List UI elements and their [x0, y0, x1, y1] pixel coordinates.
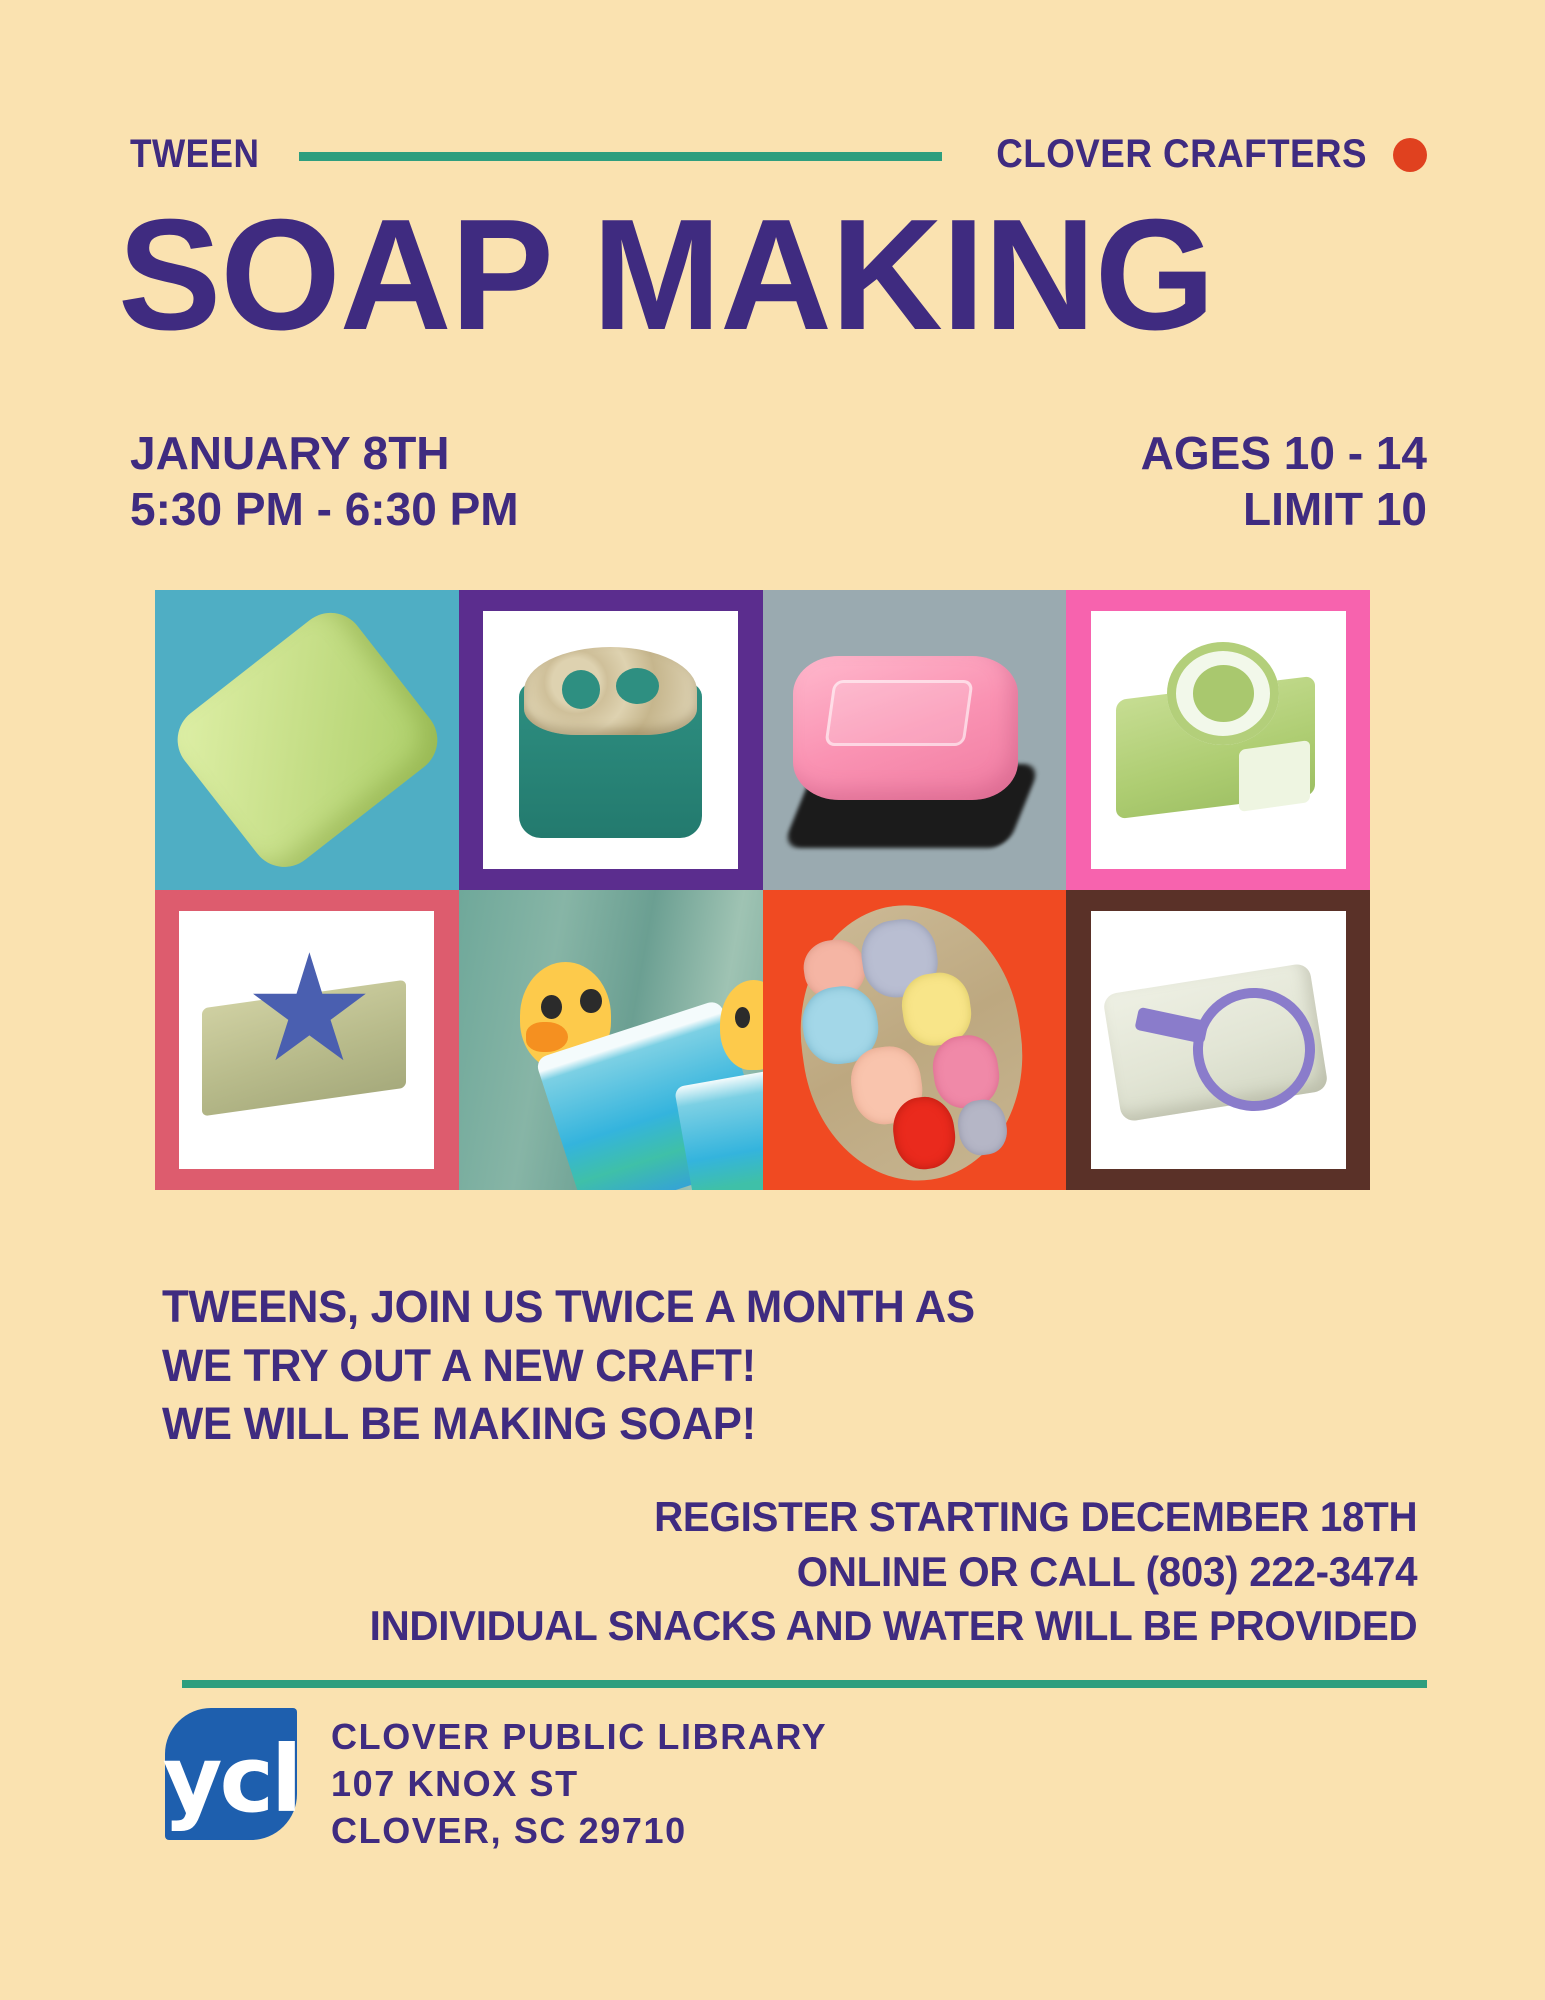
soap-swirl-white-corner [1239, 740, 1310, 812]
poster-canvas: TWEEN CLOVER CRAFTERS SOAP MAKING JANUAR… [0, 0, 1545, 2000]
header-divider-rule [299, 152, 942, 161]
event-date: JANUARY 8TH [130, 425, 519, 481]
gallery-cell-purple-swirl-soap-on-brown [1066, 890, 1370, 1190]
soap-swirl-center [1193, 665, 1254, 722]
duck-eye-right [580, 989, 601, 1013]
header-series-label: CLOVER CRAFTERS [996, 132, 1367, 177]
flower-soap-plate [784, 891, 1039, 1190]
gallery-cell-pink-soap-bar-on-gray [763, 590, 1067, 890]
event-datetime: JANUARY 8TH 5:30 PM - 6:30 PM [130, 425, 519, 537]
soap-pink-emboss [825, 680, 974, 746]
page-title: SOAP MAKING [118, 200, 1412, 350]
gallery-cell-duck-soap-photo [459, 890, 763, 1190]
library-name: CLOVER PUBLIC LIBRARY [331, 1714, 827, 1761]
photo-inset [483, 611, 738, 869]
soap-loofah-fiber [524, 647, 698, 735]
event-ages: AGES 10 - 14 [1141, 425, 1427, 481]
duck-eye-left [541, 995, 562, 1019]
ycl-logo-text: ycl [162, 1734, 299, 1826]
body-copy: TWEENS, JOIN US TWICE A MONTH AS WE TRY … [162, 1278, 975, 1454]
soap-green-bar [163, 599, 450, 880]
register-line-3: INDIVIDUAL SNACKS AND WATER WILL BE PROV… [369, 1599, 1417, 1654]
gallery-cell-star-soap-on-rose [155, 890, 459, 1190]
library-city-state-zip: CLOVER, SC 29710 [331, 1808, 827, 1855]
library-street: 107 KNOX ST [331, 1761, 827, 1808]
body-copy-line-3: WE WILL BE MAKING SOAP! [162, 1395, 975, 1454]
register-line-1: REGISTER STARTING DECEMBER 18TH [369, 1490, 1417, 1545]
ycl-logo-icon: ycl [165, 1708, 297, 1840]
photo-inset [1091, 911, 1346, 1169]
body-copy-line-1: TWEENS, JOIN US TWICE A MONTH AS [162, 1278, 975, 1337]
gallery-cell-green-soap-bar-on-teal [155, 590, 459, 890]
header-kicker: TWEEN [130, 132, 259, 177]
library-address: CLOVER PUBLIC LIBRARY 107 KNOX ST CLOVER… [331, 1708, 827, 1854]
orange-dot-icon [1393, 138, 1427, 172]
soap-loofah-hole-right [616, 668, 659, 704]
flower-soap-gray-bottom [955, 1097, 1010, 1158]
duck-beak [526, 1022, 569, 1052]
event-limit: LIMIT 10 [1141, 481, 1427, 537]
event-audience: AGES 10 - 14 LIMIT 10 [1141, 425, 1427, 537]
footer: ycl CLOVER PUBLIC LIBRARY 107 KNOX ST CL… [165, 1708, 827, 1854]
soap-image-gallery [155, 590, 1370, 1190]
photo-inset [179, 911, 434, 1169]
event-time: 5:30 PM - 6:30 PM [130, 481, 519, 537]
body-copy-line-2: WE TRY OUT A NEW CRAFT! [162, 1337, 975, 1396]
gallery-cell-loofah-soap-on-purple [459, 590, 763, 890]
register-line-2: ONLINE OR CALL (803) 222-3474 [369, 1545, 1417, 1600]
gallery-cell-flower-soaps-on-orange [763, 890, 1067, 1190]
footer-divider-rule [182, 1680, 1427, 1688]
photo-inset [1091, 611, 1346, 869]
registration-info: REGISTER STARTING DECEMBER 18TH ONLINE O… [369, 1490, 1417, 1654]
event-meta-row: JANUARY 8TH 5:30 PM - 6:30 PM AGES 10 - … [130, 425, 1427, 537]
gallery-cell-swirl-soap-on-pink [1066, 590, 1370, 890]
header-row: TWEEN CLOVER CRAFTERS [130, 132, 1427, 177]
